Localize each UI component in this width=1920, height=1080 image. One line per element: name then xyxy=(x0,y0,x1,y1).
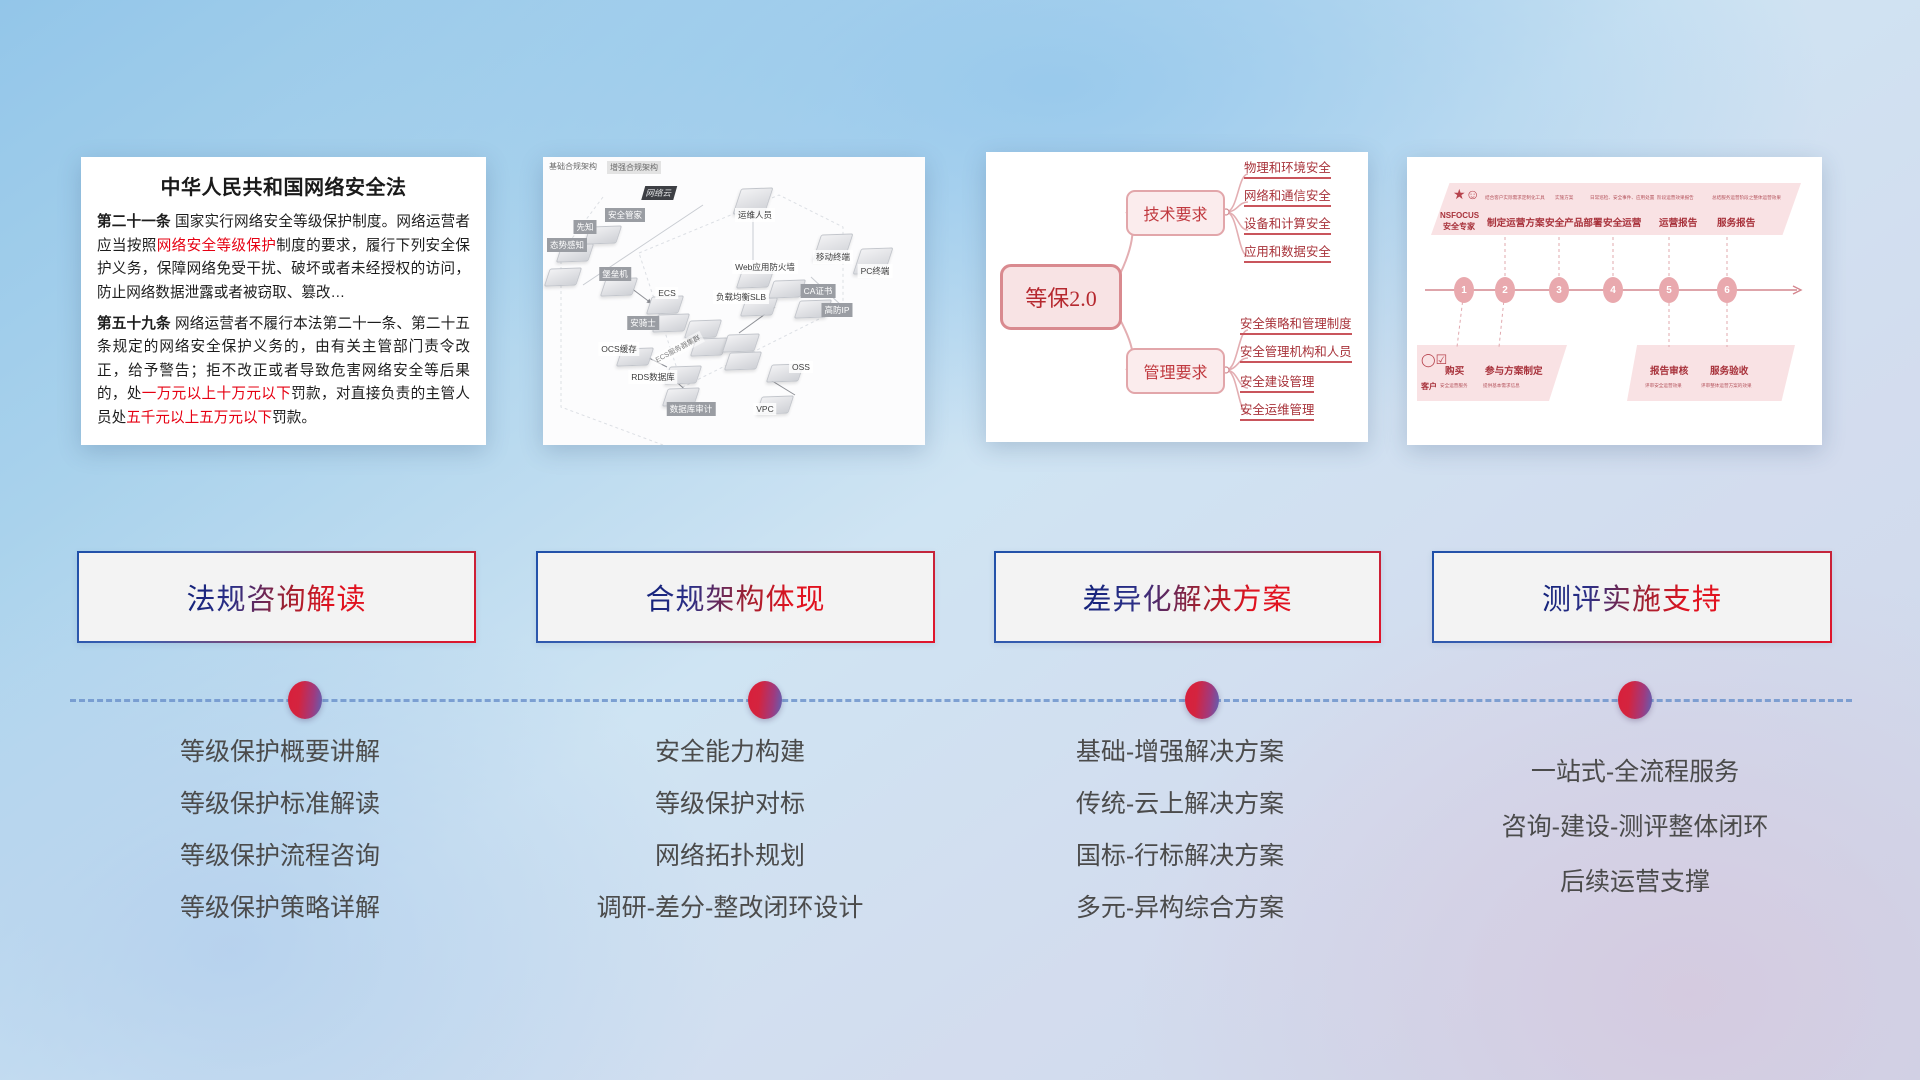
heading-label: 差异化解决方案 xyxy=(1082,576,1292,618)
list-item: 传统-云上解决方案 xyxy=(960,792,1400,817)
list-item: 等级保护概要讲解 xyxy=(60,740,500,765)
progress-timeline xyxy=(70,698,1852,701)
list-item: 一站式-全流程服务 xyxy=(1410,760,1860,785)
slide-canvas: 中华人民共和国网络安全法 第二十一条 国家实行网络安全等级保护制度。网络运营者应… xyxy=(0,0,1920,1080)
list-item: 等级保护流程咨询 xyxy=(60,844,500,869)
detail-column-3: 基础-增强解决方案 传统-云上解决方案 国标-行标解决方案 多元-异构综合方案 xyxy=(960,740,1400,948)
list-item: 等级保护策略详解 xyxy=(60,896,500,921)
heading-box-compliance-architecture[interactable]: 合规架构体现 xyxy=(536,551,935,643)
list-item: 咨询-建设-测评整体闭环 xyxy=(1410,815,1860,840)
detail-column-2: 安全能力构建 等级保护对标 网络拓扑规划 调研-差分-整改闭环设计 xyxy=(510,740,950,948)
list-item: 后续运营支撑 xyxy=(1410,870,1860,895)
list-item: 等级保护标准解读 xyxy=(60,792,500,817)
heading-box-differentiated-solution[interactable]: 差异化解决方案 xyxy=(994,551,1381,643)
timeline-marker-1[interactable] xyxy=(288,681,322,719)
list-item: 国标-行标解决方案 xyxy=(960,844,1400,869)
list-item: 网络拓扑规划 xyxy=(510,844,950,869)
list-item: 调研-差分-整改闭环设计 xyxy=(510,896,950,921)
heading-label: 法规咨询解读 xyxy=(186,576,366,618)
timeline-marker-4[interactable] xyxy=(1618,681,1652,719)
heading-label: 合规架构体现 xyxy=(645,576,825,618)
heading-box-evaluation-support[interactable]: 测评实施支持 xyxy=(1432,551,1832,643)
detail-column-4: 一站式-全流程服务 咨询-建设-测评整体闭环 后续运营支撑 xyxy=(1410,760,1860,925)
list-item: 等级保护对标 xyxy=(510,792,950,817)
timeline-dashed-line xyxy=(70,699,1852,702)
heading-box-regulation-consulting[interactable]: 法规咨询解读 xyxy=(77,551,476,643)
detail-column-1: 等级保护概要讲解 等级保护标准解读 等级保护流程咨询 等级保护策略详解 xyxy=(60,740,500,948)
list-item: 多元-异构综合方案 xyxy=(960,896,1400,921)
list-item: 基础-增强解决方案 xyxy=(960,740,1400,765)
heading-label: 测评实施支持 xyxy=(1542,576,1722,618)
timeline-marker-2[interactable] xyxy=(748,681,782,719)
list-item: 安全能力构建 xyxy=(510,740,950,765)
timeline-marker-3[interactable] xyxy=(1185,681,1219,719)
